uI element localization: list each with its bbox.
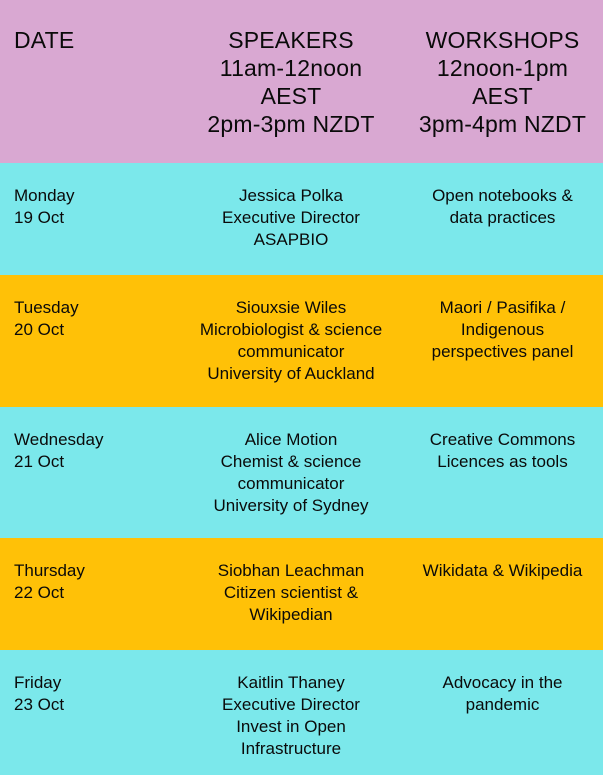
speaker-role-cont: Wikipedian bbox=[249, 604, 332, 626]
date-number: 19 Oct bbox=[14, 207, 64, 229]
workshop-title-line: Indigenous bbox=[461, 319, 544, 341]
row-cell-speakers: Alice Motion Chemist & science communica… bbox=[180, 429, 402, 538]
header-date-line: DATE bbox=[14, 26, 74, 54]
row-cell-workshops: Creative Commons Licences as tools bbox=[402, 429, 603, 538]
workshop-title-line: Licences as tools bbox=[437, 451, 567, 473]
workshop-title-line: Open notebooks & bbox=[432, 185, 573, 207]
row-cell-date: Monday 19 Oct bbox=[0, 185, 180, 275]
header-speakers-title: SPEAKERS bbox=[228, 26, 354, 54]
row-cell-workshops: Maori / Pasifika / Indigenous perspectiv… bbox=[402, 297, 603, 407]
row-cell-date: Wednesday 21 Oct bbox=[0, 429, 180, 538]
table-row: Thursday 22 Oct Siobhan Leachman Citizen… bbox=[0, 538, 603, 650]
date-number: 21 Oct bbox=[14, 451, 64, 473]
table-row: Monday 19 Oct Jessica Polka Executive Di… bbox=[0, 163, 603, 275]
header-speakers-time-aest: 11am-12noon bbox=[220, 54, 362, 82]
workshop-title-line: Maori / Pasifika / bbox=[440, 297, 566, 319]
workshop-title-line: Wikidata & Wikipedia bbox=[423, 560, 583, 582]
table-row: Tuesday 20 Oct Siouxsie Wiles Microbiolo… bbox=[0, 275, 603, 407]
row-cell-workshops: Wikidata & Wikipedia bbox=[402, 560, 603, 650]
date-day: Tuesday bbox=[14, 297, 79, 319]
speaker-name: Alice Motion bbox=[245, 429, 338, 451]
speaker-role: Chemist & science bbox=[221, 451, 362, 473]
header-cell-workshops: WORKSHOPS 12noon-1pm AEST 3pm-4pm NZDT bbox=[402, 26, 603, 163]
date-number: 22 Oct bbox=[14, 582, 64, 604]
schedule-table: DATE SPEAKERS 11am-12noon AEST 2pm-3pm N… bbox=[0, 0, 603, 775]
speaker-role: Executive Director bbox=[222, 694, 360, 716]
table-row: Friday 23 Oct Kaitlin Thaney Executive D… bbox=[0, 650, 603, 775]
table-row: Wednesday 21 Oct Alice Motion Chemist & … bbox=[0, 407, 603, 538]
row-cell-speakers: Siobhan Leachman Citizen scientist & Wik… bbox=[180, 560, 402, 650]
speaker-role: Citizen scientist & bbox=[224, 582, 358, 604]
row-cell-date: Friday 23 Oct bbox=[0, 672, 180, 775]
row-cell-workshops: Open notebooks & data practices bbox=[402, 185, 603, 275]
date-day: Thursday bbox=[14, 560, 85, 582]
date-number: 20 Oct bbox=[14, 319, 64, 341]
speaker-role: Microbiologist & science bbox=[200, 319, 382, 341]
speaker-affiliation: Invest in Open bbox=[236, 716, 346, 738]
row-cell-speakers: Jessica Polka Executive Director ASAPBIO bbox=[180, 185, 402, 275]
row-cell-date: Tuesday 20 Oct bbox=[0, 297, 180, 407]
speaker-affiliation: ASAPBIO bbox=[254, 229, 329, 251]
workshop-title-line: pandemic bbox=[466, 694, 540, 716]
speaker-role-cont: communicator bbox=[238, 341, 345, 363]
header-speakers-time-nzdt: 2pm-3pm NZDT bbox=[207, 110, 374, 138]
speaker-affiliation: University of Sydney bbox=[214, 495, 369, 517]
speaker-name: Kaitlin Thaney bbox=[237, 672, 344, 694]
header-workshops-time-nzdt: 3pm-4pm NZDT bbox=[419, 110, 586, 138]
workshop-title-line: Creative Commons bbox=[430, 429, 576, 451]
row-cell-speakers: Kaitlin Thaney Executive Director Invest… bbox=[180, 672, 402, 775]
workshop-title-line: data practices bbox=[450, 207, 556, 229]
speaker-name: Jessica Polka bbox=[239, 185, 343, 207]
workshop-title-line: Advocacy in the bbox=[442, 672, 562, 694]
header-cell-date: DATE bbox=[0, 26, 180, 163]
header-workshops-time-aest: 12noon-1pm bbox=[437, 54, 568, 82]
header-cell-speakers: SPEAKERS 11am-12noon AEST 2pm-3pm NZDT bbox=[180, 26, 402, 163]
table-header-row: DATE SPEAKERS 11am-12noon AEST 2pm-3pm N… bbox=[0, 0, 603, 163]
speaker-name: Siobhan Leachman bbox=[218, 560, 365, 582]
date-day: Wednesday bbox=[14, 429, 103, 451]
row-cell-speakers: Siouxsie Wiles Microbiologist & science … bbox=[180, 297, 402, 407]
date-day: Friday bbox=[14, 672, 61, 694]
workshop-title-line: perspectives panel bbox=[432, 341, 574, 363]
speaker-affiliation: University of Auckland bbox=[207, 363, 374, 385]
speaker-name: Siouxsie Wiles bbox=[236, 297, 347, 319]
row-cell-workshops: Advocacy in the pandemic bbox=[402, 672, 603, 775]
speaker-role: Executive Director bbox=[222, 207, 360, 229]
speaker-affiliation-cont: Infrastructure bbox=[241, 738, 341, 760]
row-cell-date: Thursday 22 Oct bbox=[0, 560, 180, 650]
header-workshops-tz-aest: AEST bbox=[472, 82, 533, 110]
header-speakers-tz-aest: AEST bbox=[261, 82, 322, 110]
date-number: 23 Oct bbox=[14, 694, 64, 716]
date-day: Monday bbox=[14, 185, 74, 207]
header-workshops-title: WORKSHOPS bbox=[426, 26, 580, 54]
speaker-role-cont: communicator bbox=[238, 473, 345, 495]
